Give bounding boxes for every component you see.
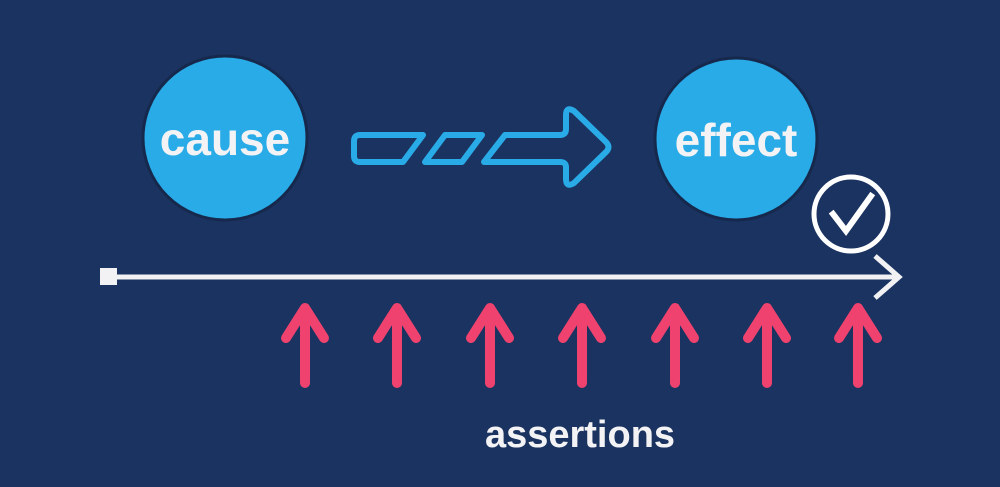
diagram-svg: cause effect [0, 0, 1000, 487]
node-effect[interactable]: effect [655, 58, 817, 220]
check-badge-icon [814, 177, 888, 251]
node-cause[interactable]: cause [143, 56, 307, 220]
node-effect-label: effect [675, 114, 798, 166]
assertions-caption: assertions [485, 414, 675, 456]
check-badge-circle [814, 177, 888, 251]
diagram-canvas: cause effect [0, 0, 1000, 487]
node-cause-label: cause [160, 113, 290, 165]
